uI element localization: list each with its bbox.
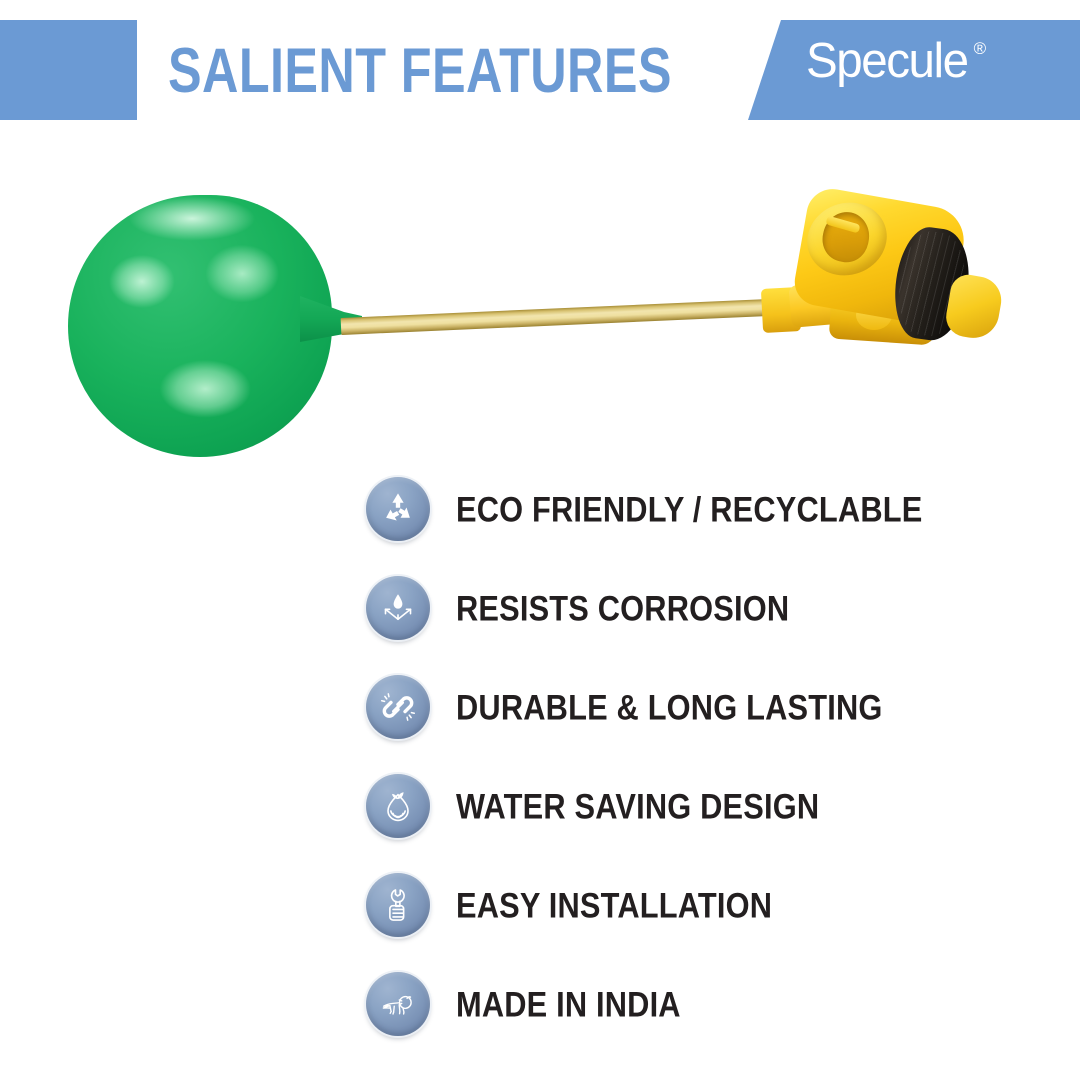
feature-label: MADE IN INDIA (456, 987, 681, 1022)
feature-item: ECO FRIENDLY / RECYCLABLE (0, 460, 1080, 559)
connecting-rod (341, 299, 773, 335)
recycle-icon (366, 477, 430, 541)
header-band: SALIENT FEATURES Specule ® (0, 0, 1080, 140)
header-accent-block (0, 20, 137, 120)
lion-icon (366, 972, 430, 1036)
chain-link-icon (366, 675, 430, 739)
brand-logo-text: Specule (806, 38, 968, 85)
water-repellent-icon (366, 576, 430, 640)
feature-label: RESISTS CORROSION (456, 591, 789, 626)
feature-item: DURABLE & LONG LASTING (0, 658, 1080, 757)
page-title: SALIENT FEATURES (168, 27, 648, 115)
feature-item: WATER SAVING DESIGN (0, 757, 1080, 856)
product-image (0, 150, 1080, 480)
registered-trademark-icon: ® (974, 40, 987, 57)
valve-outlet (943, 272, 1005, 342)
float-ball (68, 195, 332, 457)
feature-item: MADE IN INDIA (0, 955, 1080, 1054)
feature-label: EASY INSTALLATION (456, 888, 772, 923)
water-drop-ripple-icon (366, 774, 430, 838)
feature-label: ECO FRIENDLY / RECYCLABLE (456, 492, 922, 527)
feature-label: DURABLE & LONG LASTING (456, 690, 883, 725)
features-list: ECO FRIENDLY / RECYCLABLE RESISTS CORROS… (0, 460, 1080, 1054)
feature-item: EASY INSTALLATION (0, 856, 1080, 955)
brand-logo: Specule ® (806, 38, 986, 85)
feature-item: RESISTS CORROSION (0, 559, 1080, 658)
wrench-hand-icon (366, 873, 430, 937)
feature-label: WATER SAVING DESIGN (456, 789, 819, 824)
